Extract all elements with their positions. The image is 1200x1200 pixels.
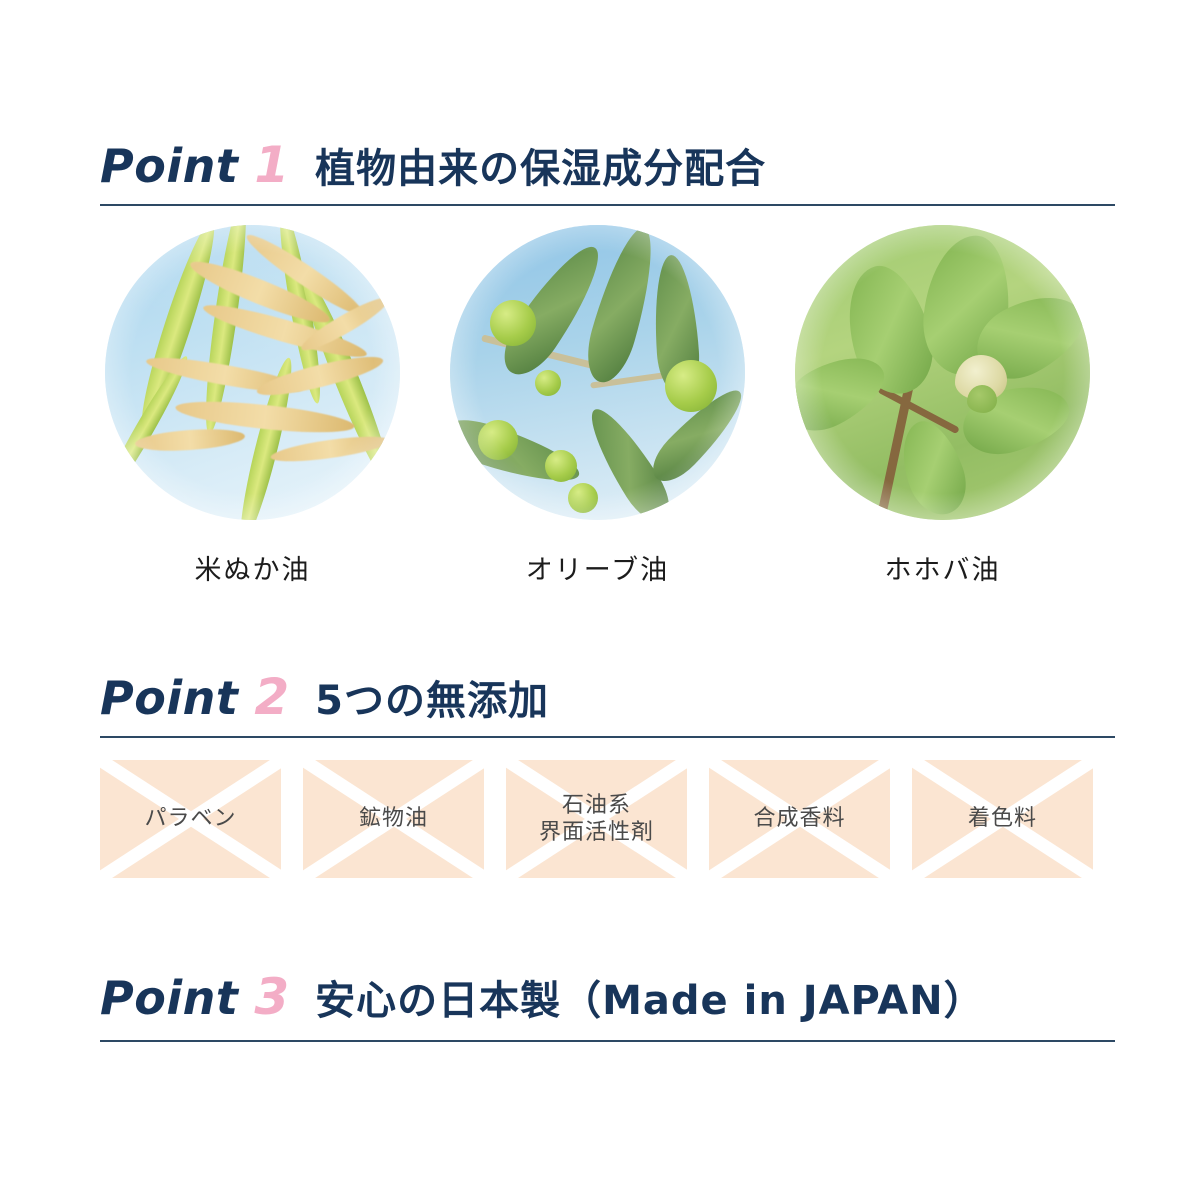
ingredient-caption-rice: 米ぬか油 <box>105 548 400 587</box>
free-from-label: 石油系 界面活性剤 <box>539 792 654 847</box>
free-from-label: 着色料 <box>968 805 1037 833</box>
point-3-divider <box>100 1040 1115 1042</box>
point-1-heading: Point 1 植物由来の保湿成分配合 <box>0 140 1200 202</box>
point-1-divider <box>100 204 1115 206</box>
rice-plant-photo <box>105 225 400 520</box>
free-from-box-mineral-oil: 鉱物油 <box>303 760 484 878</box>
section-point-1: Point 1 植物由来の保湿成分配合 <box>0 140 1200 202</box>
point-2-number: 2 <box>254 672 289 722</box>
point-3-heading: Point 3 安心の日本製（Made in JAPAN） <box>0 972 1200 1034</box>
olive-branch-photo <box>450 225 745 520</box>
free-from-box-list: パラベン 鉱物油 石油系 界面活性剤 合成香料 着色料 <box>100 760 1093 878</box>
point-3-number: 3 <box>254 972 289 1022</box>
point-2-heading: Point 2 5つの無添加 <box>0 672 1200 734</box>
free-from-label: パラベン <box>144 805 236 833</box>
free-from-box-synthetic-fragrance: 合成香料 <box>709 760 890 878</box>
ingredient-caption-olive: オリーブ油 <box>450 548 745 587</box>
section-point-3: Point 3 安心の日本製（Made in JAPAN） <box>0 972 1200 1034</box>
ingredient-caption-jojoba: ホホバ油 <box>795 548 1090 587</box>
free-from-box-colorant: 着色料 <box>912 760 1093 878</box>
point-2-divider <box>100 736 1115 738</box>
point-1-label: Point <box>100 143 238 189</box>
ingredient-circle-list: 米ぬか油 オリーブ油 <box>0 225 1200 587</box>
free-from-box-petroleum-surfactant: 石油系 界面活性剤 <box>506 760 687 878</box>
point-3-title: 安心の日本製（Made in JAPAN） <box>315 981 985 1021</box>
section-point-2: Point 2 5つの無添加 <box>0 672 1200 734</box>
free-from-label: 鉱物油 <box>359 805 428 833</box>
ingredient-item-jojoba: ホホバ油 <box>795 225 1090 587</box>
point-2-label: Point <box>100 675 238 721</box>
point-2-title: 5つの無添加 <box>315 681 549 721</box>
point-3-label: Point <box>100 975 238 1021</box>
ingredient-item-rice: 米ぬか油 <box>105 225 400 587</box>
point-1-title: 植物由来の保湿成分配合 <box>315 149 766 189</box>
free-from-label: 合成香料 <box>753 805 845 833</box>
jojoba-plant-photo <box>795 225 1090 520</box>
point-1-number: 1 <box>254 140 289 190</box>
ingredient-item-olive: オリーブ油 <box>450 225 745 587</box>
free-from-box-paraben: パラベン <box>100 760 281 878</box>
